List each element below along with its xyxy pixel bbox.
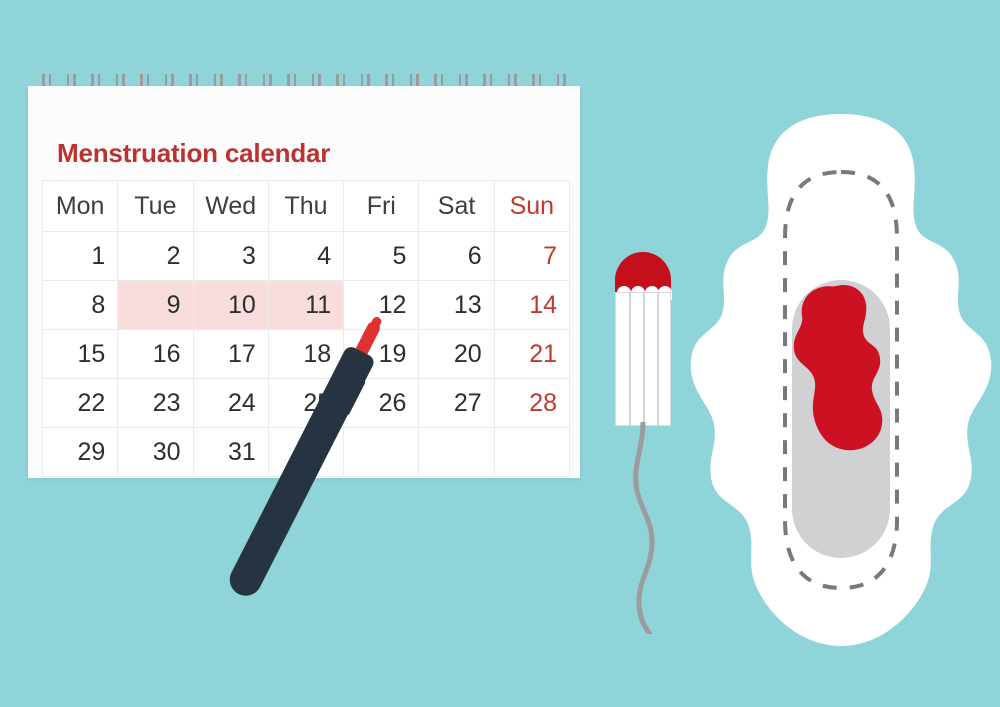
calendar-day-23[interactable]: 23 [118,379,193,428]
calendar-day-28[interactable]: 28 [494,379,569,428]
calendar-day-17[interactable]: 17 [193,330,268,379]
calendar-day-10[interactable]: 10 [193,281,268,330]
calendar-day-6[interactable]: 6 [419,232,494,281]
calendar-day-7[interactable]: 7 [494,232,569,281]
weekday-header-thu: Thu [268,181,343,232]
calendar-day-15[interactable]: 15 [43,330,118,379]
calendar-week-row: 15161718192021 [43,330,570,379]
tampon-groove-2 [643,292,645,426]
calendar-day-empty [419,428,494,477]
calendar-day-2[interactable]: 2 [118,232,193,281]
calendar-day-27[interactable]: 27 [419,379,494,428]
calendar-day-4[interactable]: 4 [268,232,343,281]
weekday-header-sat: Sat [419,181,494,232]
page-title: Menstruation calendar [57,138,330,169]
weekday-header-fri: Fri [344,181,419,232]
sanitary-pad-illustration [688,108,994,652]
calendar-week-row: 1234567 [43,232,570,281]
calendar-day-22[interactable]: 22 [43,379,118,428]
calendar-day-30[interactable]: 30 [118,428,193,477]
tampon-groove-1 [629,292,631,426]
weekday-header-row: Mon Tue Wed Thu Fri Sat Sun [43,181,570,232]
illustration-scene: Menstruation calendar Mon Tue Wed Thu Fr… [0,0,1000,707]
weekday-header-mon: Mon [43,181,118,232]
weekday-header-sun: Sun [494,181,569,232]
calendar-day-24[interactable]: 24 [193,379,268,428]
tampon-illustration [606,252,686,632]
tampon-groove-3 [657,292,659,426]
calendar-week-row: 891011121314 [43,281,570,330]
calendar-day-3[interactable]: 3 [193,232,268,281]
calendar-day-16[interactable]: 16 [118,330,193,379]
calendar-day-14[interactable]: 14 [494,281,569,330]
calendar-day-13[interactable]: 13 [419,281,494,330]
calendar-day-20[interactable]: 20 [419,330,494,379]
calendar-day-21[interactable]: 21 [494,330,569,379]
calendar-day-1[interactable]: 1 [43,232,118,281]
tampon-string [606,422,686,634]
calendar-day-9[interactable]: 9 [118,281,193,330]
calendar-day-31[interactable]: 31 [193,428,268,477]
weekday-header-tue: Tue [118,181,193,232]
calendar-day-11[interactable]: 11 [268,281,343,330]
calendar-day-empty [494,428,569,477]
calendar-day-5[interactable]: 5 [344,232,419,281]
calendar-day-8[interactable]: 8 [43,281,118,330]
calendar-day-empty [344,428,419,477]
weekday-header-wed: Wed [193,181,268,232]
calendar-day-29[interactable]: 29 [43,428,118,477]
